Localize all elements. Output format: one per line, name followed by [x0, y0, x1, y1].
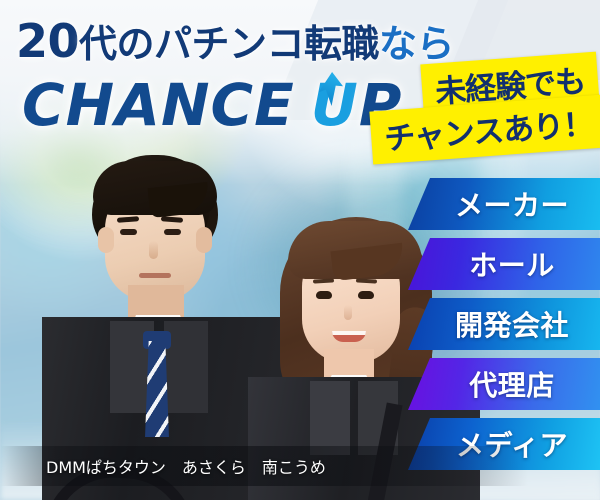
- category-label-hall: ホール: [469, 244, 555, 284]
- category-button-hall[interactable]: ホール: [408, 238, 600, 290]
- logo-word-chance: CHANCE: [22, 71, 295, 139]
- woman-fringe: [288, 221, 422, 279]
- man-eye-left: [120, 229, 137, 235]
- headline-number: 20: [16, 14, 79, 68]
- category-label-developer: 開発会社: [455, 304, 569, 344]
- man-mouth: [139, 273, 171, 278]
- headline: 20代のパチンコ転職なら: [16, 18, 454, 64]
- woman-lapel-left: [310, 381, 350, 455]
- advertisement-banner[interactable]: 20代のパチンコ転職なら CHANCEUP 未経験でも チャンスあり！ メーカー…: [0, 0, 600, 500]
- category-button-agency[interactable]: 代理店: [408, 358, 600, 410]
- brand-logo: CHANCEUP: [22, 76, 402, 134]
- headline-suffix-text: なら: [379, 22, 454, 66]
- man-fringe: [93, 161, 217, 215]
- man-ear-right: [196, 227, 212, 253]
- man-eye-right: [164, 229, 181, 235]
- caption-strip: DMMぱちタウン あさくら 南こうめ: [0, 446, 600, 486]
- woman-eye-right: [358, 291, 374, 299]
- category-label-agency: 代理店: [469, 364, 555, 404]
- woman-eye-left: [316, 291, 332, 299]
- man-ear-left: [98, 227, 114, 253]
- headline-main-text: 代のパチンコ転職: [79, 22, 379, 66]
- man-nose: [149, 241, 158, 259]
- woman-nose: [344, 305, 352, 320]
- category-list: メーカー ホール 開発会社 代理店 メディア: [408, 178, 600, 478]
- category-label-maker: メーカー: [455, 184, 569, 224]
- caption-text: DMMぱちタウン あさくら 南こうめ: [46, 454, 326, 478]
- category-button-developer[interactable]: 開発会社: [408, 298, 600, 350]
- category-button-maker[interactable]: メーカー: [408, 178, 600, 230]
